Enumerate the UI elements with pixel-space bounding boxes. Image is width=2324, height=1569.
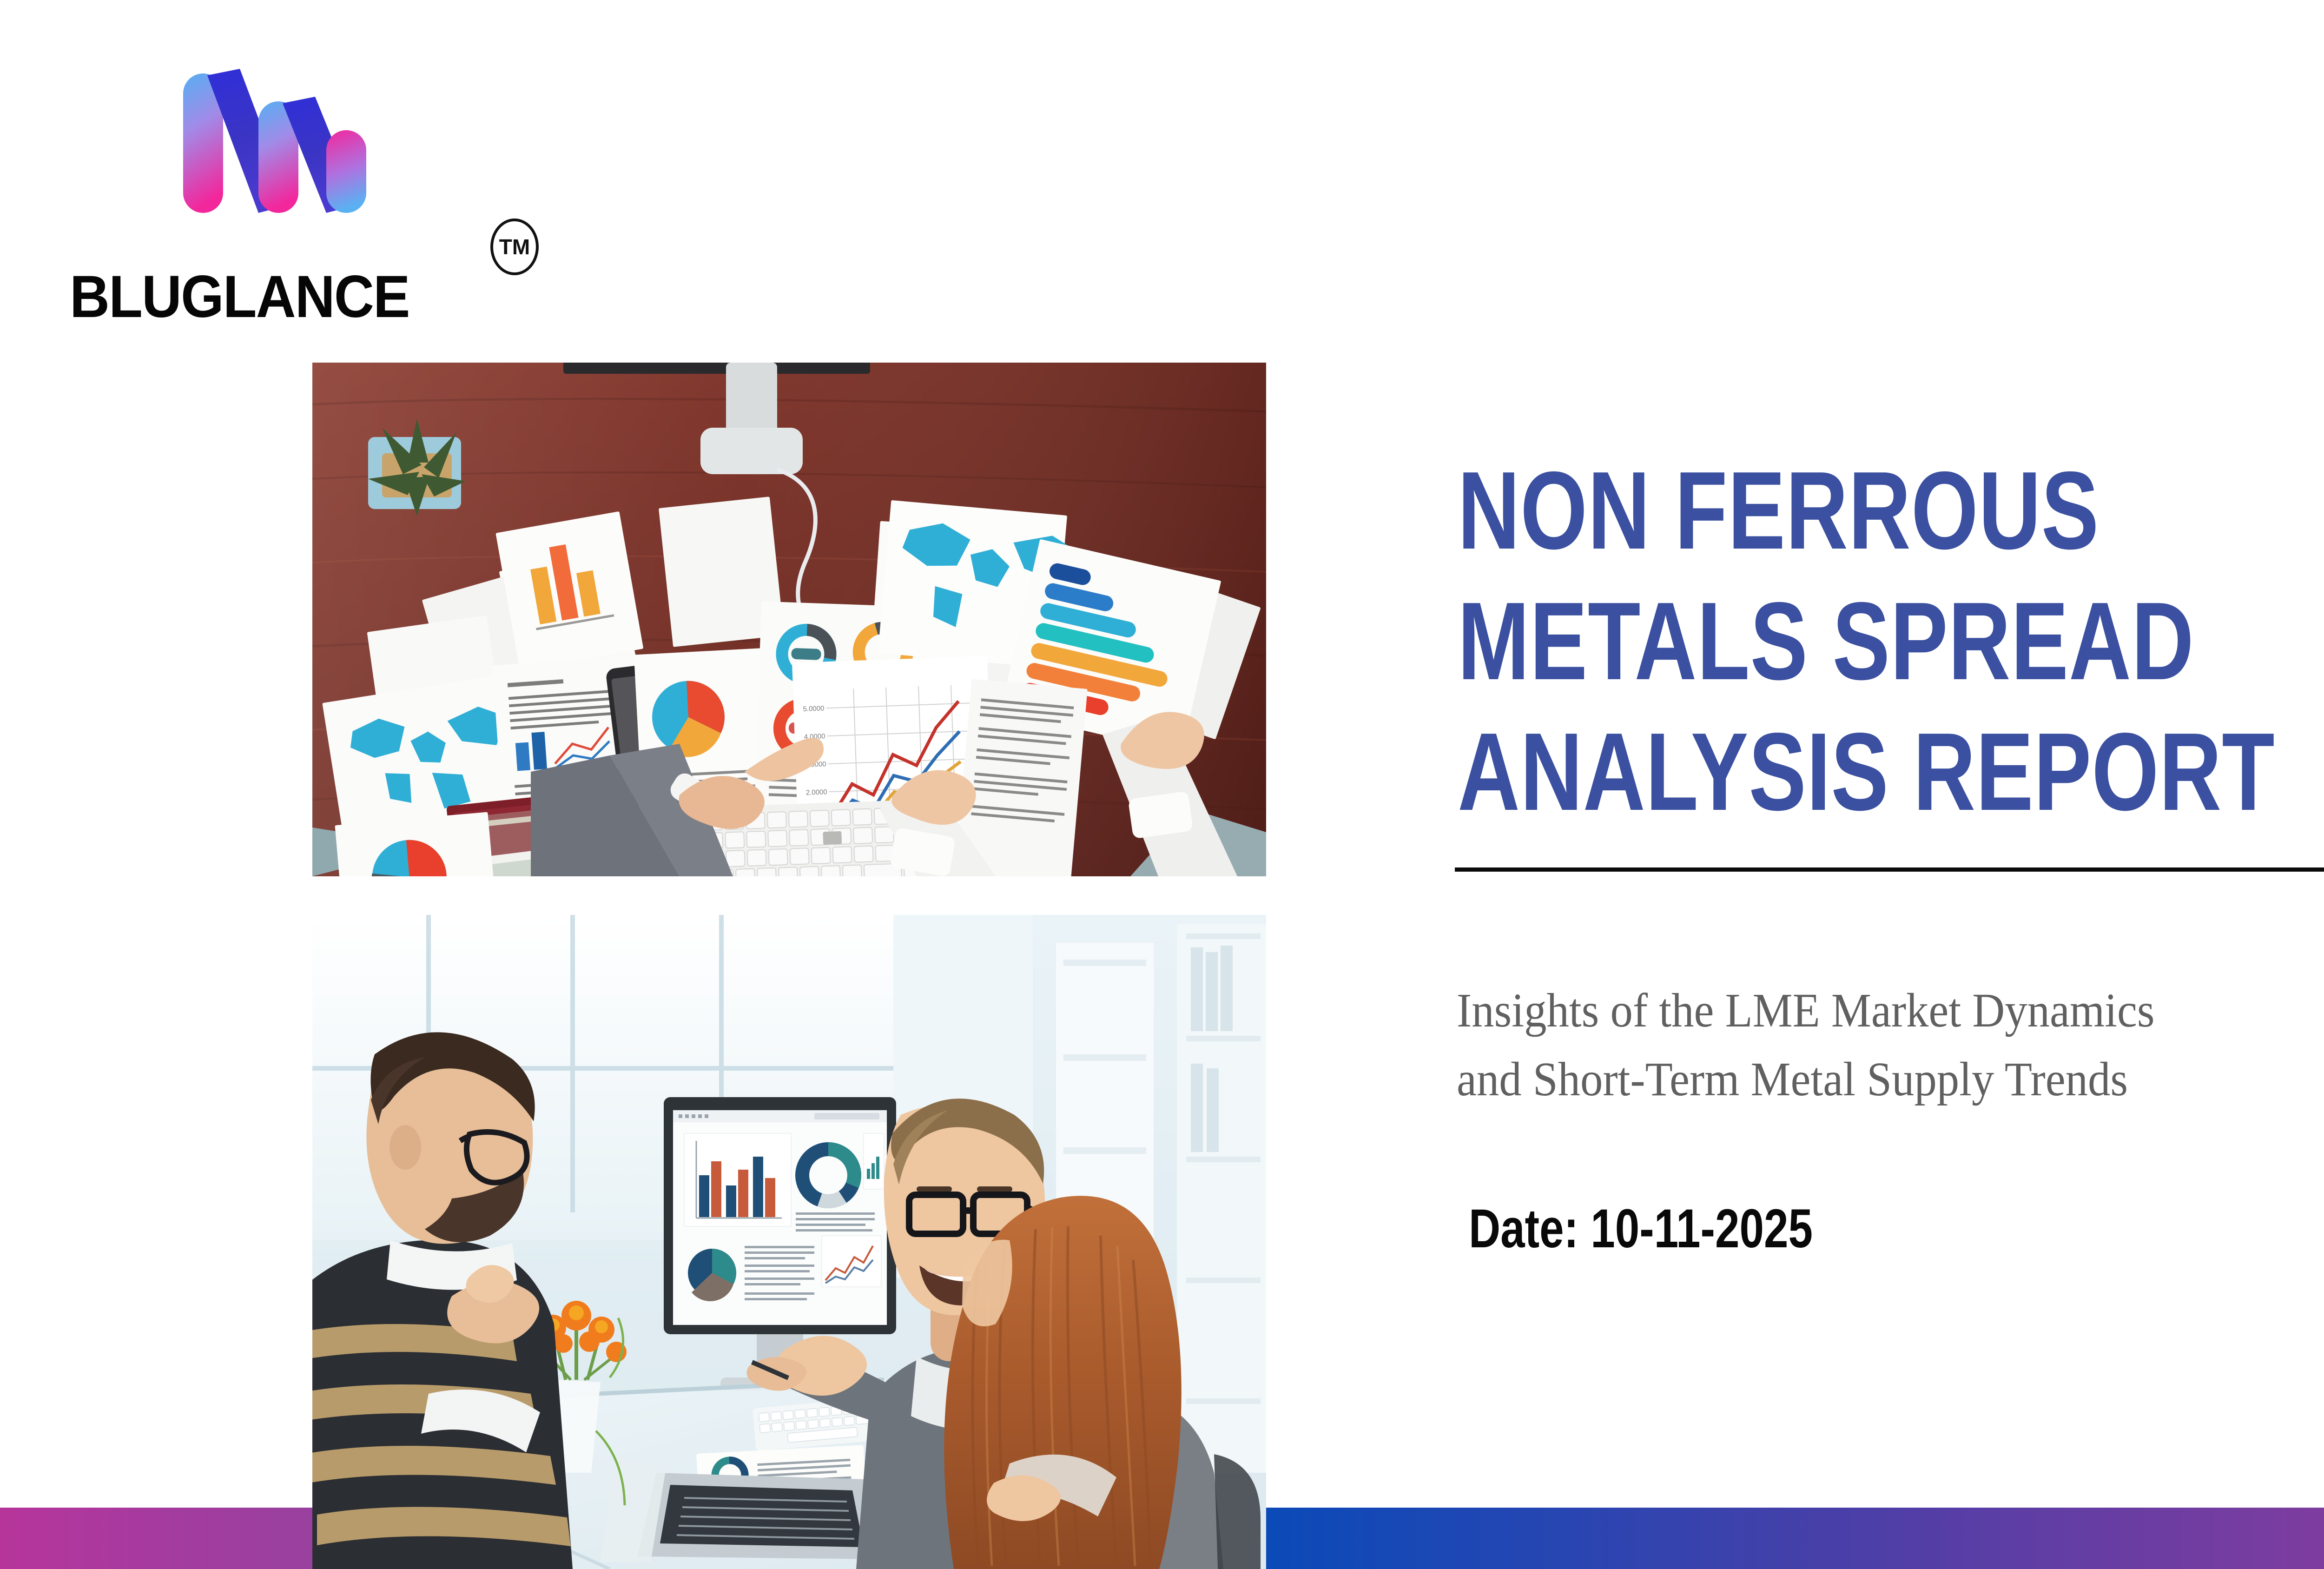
trademark-text: TM xyxy=(499,236,530,258)
gradient-bar-right-segment xyxy=(1266,1508,2324,1569)
subtitle-line-2: and Short-Term Metal Supply Trends xyxy=(1457,1045,2324,1114)
team-photo xyxy=(312,915,1266,1569)
title-divider xyxy=(1455,867,2324,872)
brand-gradient-bar xyxy=(0,1508,2324,1569)
report-date: Date: 10-11-2025 xyxy=(1469,1197,1813,1260)
title-line-1: NON FERROUS xyxy=(1458,446,2324,576)
title-line-2: METALS SPREAD xyxy=(1458,576,2324,707)
subtitle-line-1: Insights of the LME Market Dynamics xyxy=(1457,976,2324,1045)
gradient-bar-left-segment xyxy=(0,1508,312,1569)
brand-logo[interactable]: TM BLUGLANCE xyxy=(70,65,488,284)
report-subtitle: Insights of the LME Market Dynamics and … xyxy=(1457,976,2324,1113)
title-line-3: ANALYSIS REPORT xyxy=(1458,707,2324,838)
svg-text:5.0000: 5.0000 xyxy=(803,704,824,713)
bluglance-m-mark-icon xyxy=(181,65,376,218)
trademark-icon: TM xyxy=(490,218,539,275)
desk-photo: 5.0000 4.0000 3.0000 2.0000 1.0000 0.000… xyxy=(312,363,1266,876)
brand-wordmark: BLUGLANCE xyxy=(70,263,409,331)
page-title: NON FERROUS METALS SPREAD ANALYSIS REPOR… xyxy=(1458,446,2324,837)
svg-text:2.0000: 2.0000 xyxy=(806,788,827,797)
